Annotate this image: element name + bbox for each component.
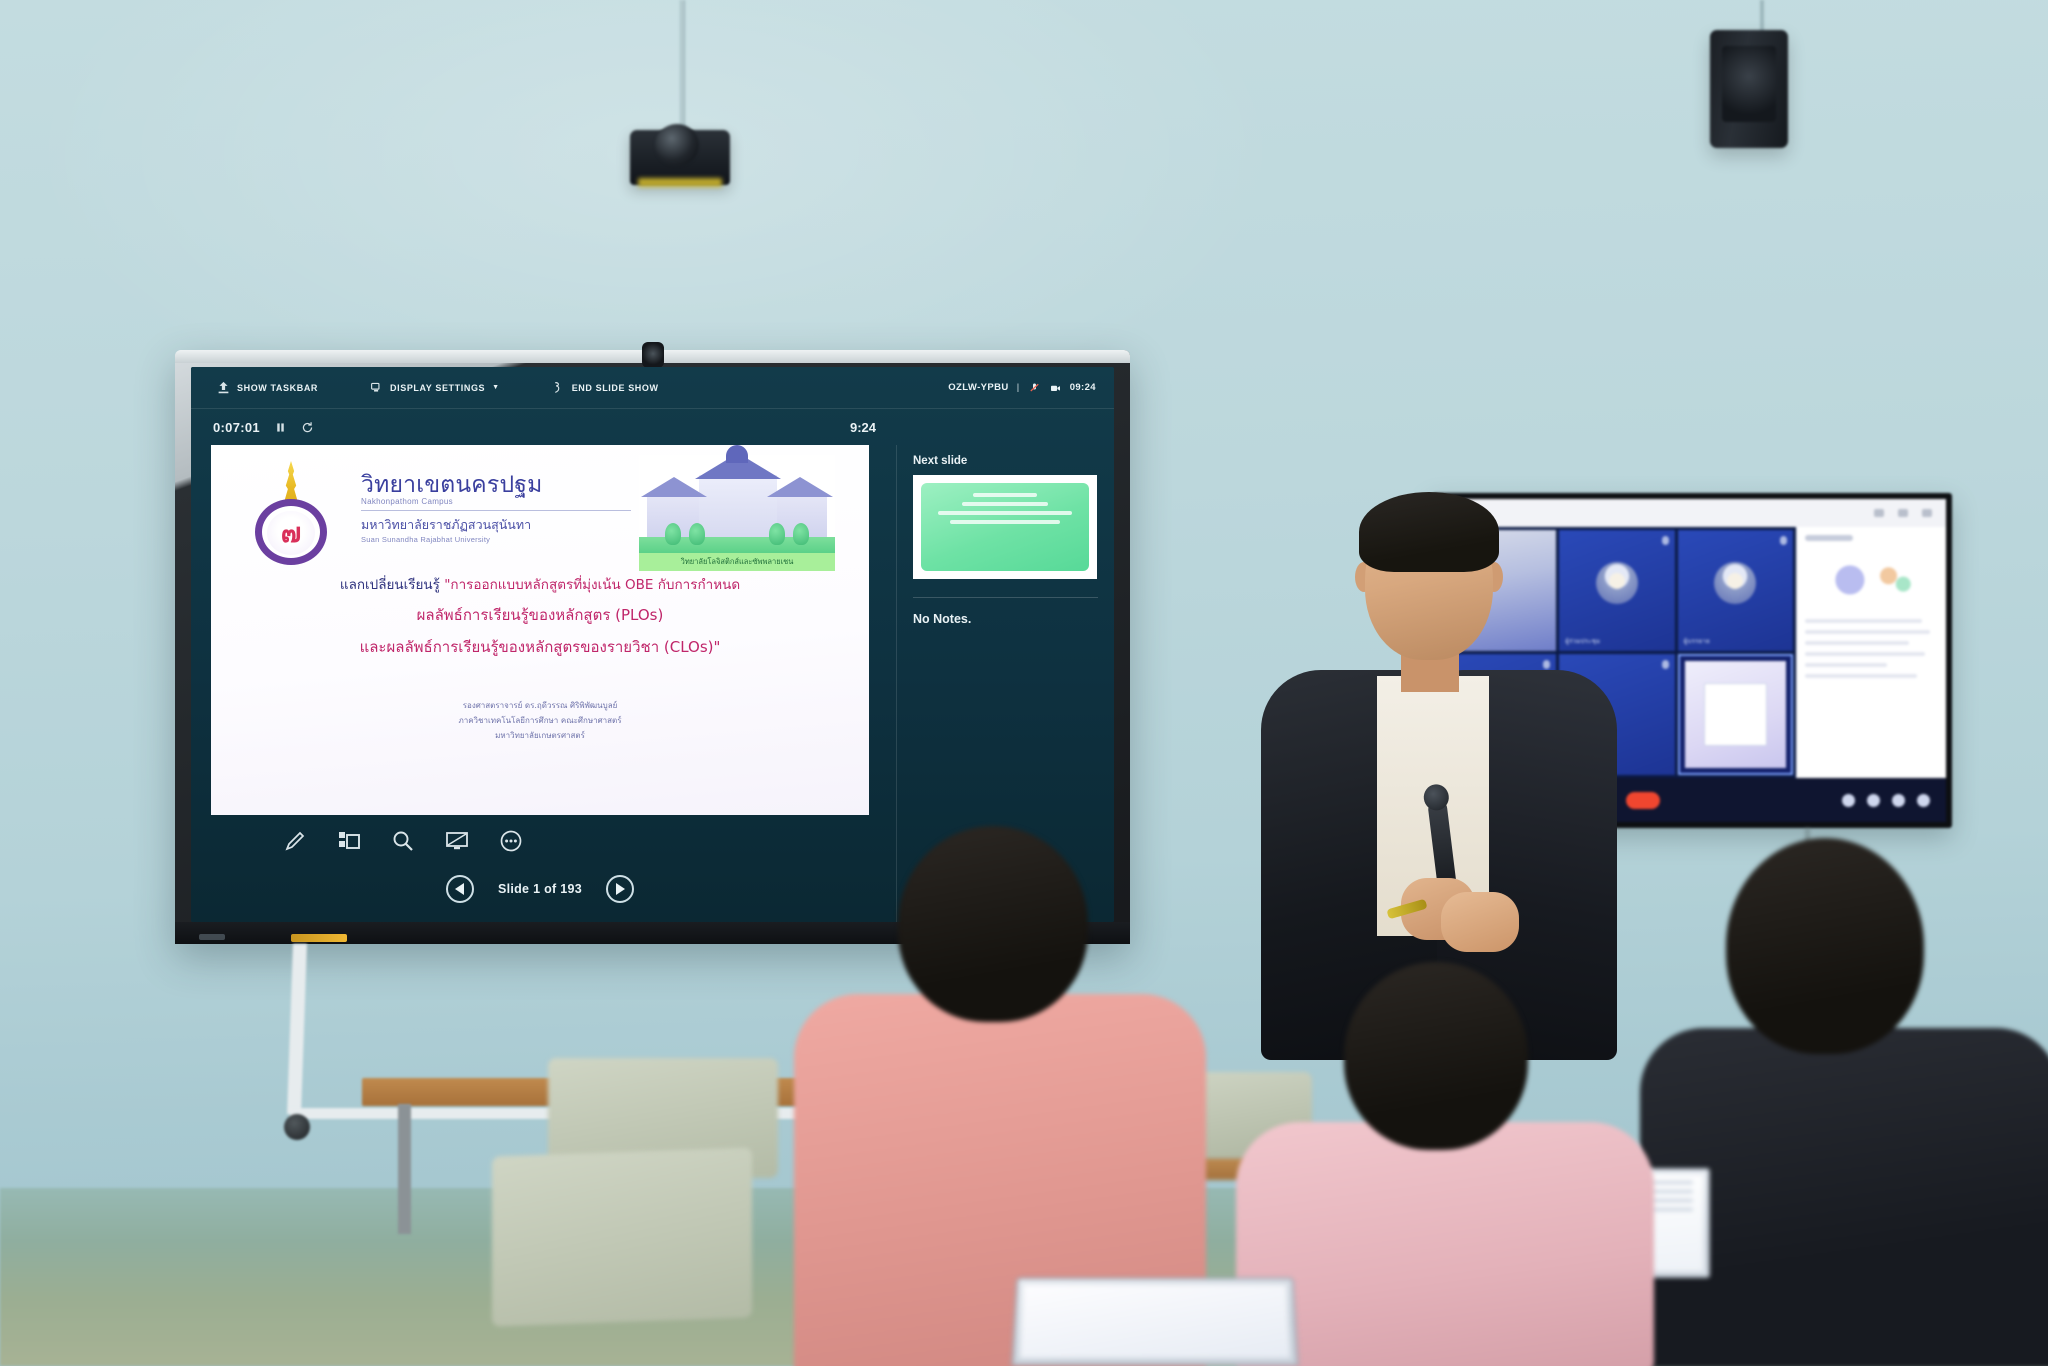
- settings-icon[interactable]: [1867, 794, 1880, 807]
- microphone-muted-icon[interactable]: [1028, 382, 1041, 394]
- audience-body: [1236, 1122, 1654, 1366]
- black-screen-icon[interactable]: [445, 829, 469, 853]
- university-seal-icon: ๗: [247, 461, 335, 565]
- ceiling-speaker: [1710, 30, 1788, 148]
- slide-title-line-3: และผลลัพธ์การเรียนรู้ของหลักสูตรของรายวิ…: [211, 635, 869, 659]
- illustration-tree: [793, 523, 809, 545]
- slide-title-lead: แลกเปลี่ยนเรียนรู้: [340, 577, 444, 593]
- timer-row[interactable]: 0:07:01 9:24: [191, 409, 1114, 445]
- chat-line: [1805, 641, 1909, 645]
- chat-line: [1805, 652, 1925, 656]
- notes-text: No Notes.: [913, 612, 1098, 626]
- chat-panel-title: [1805, 535, 1853, 541]
- display-power-led: [291, 934, 347, 942]
- more-options-icon[interactable]: [499, 829, 523, 853]
- magnifier-icon[interactable]: [391, 829, 415, 853]
- participant-tile[interactable]: ผู้บรรยาย: [1678, 530, 1793, 651]
- audience-head: [1344, 962, 1528, 1150]
- maximize-icon[interactable]: [1898, 509, 1908, 517]
- show-taskbar-label: SHOW TASKBAR: [237, 383, 318, 393]
- slide-title-main: "การออกแบบหลักสูตรที่มุ่งเน้น OBE กับการ…: [444, 577, 740, 593]
- presenter-hair: [1359, 492, 1499, 572]
- previous-slide-button[interactable]: [446, 875, 474, 903]
- display-settings-icon: [370, 381, 383, 394]
- slide-navigation[interactable]: Slide 1 of 193: [211, 875, 869, 903]
- seal-glyph: ๗: [273, 517, 309, 549]
- minimize-icon[interactable]: [1874, 509, 1884, 517]
- display-settings-label: DISPLAY SETTINGS: [390, 383, 485, 393]
- status-separator: |: [1017, 382, 1020, 393]
- presenter-university: มหาวิทยาลัยเกษตรศาสตร์: [211, 729, 869, 744]
- front-laptop: [1011, 1277, 1298, 1366]
- table-leg: [398, 1104, 411, 1234]
- preview-line: [950, 520, 1059, 524]
- camera-mount-rod: [680, 0, 685, 140]
- participant-name: ผู้บรรยาย: [1684, 636, 1710, 646]
- camera-icon[interactable]: [1049, 382, 1062, 394]
- stand-caster: [284, 1114, 310, 1140]
- next-slide-thumbnail[interactable]: [913, 475, 1097, 579]
- avatar: [1714, 562, 1756, 604]
- presenter-hand: [1441, 892, 1519, 952]
- audience-head: [1726, 838, 1924, 1054]
- slide-tools-bar[interactable]: [283, 829, 523, 853]
- microphone-icon: [1780, 536, 1787, 545]
- camera-label-strip: [638, 178, 722, 187]
- slide-counter: Slide 1 of 193: [498, 882, 582, 896]
- laptop-screen: [1020, 1285, 1290, 1358]
- presenter-toolbar[interactable]: SHOW TASKBAR DISPLAY SETTINGS ▼ END: [191, 367, 1114, 409]
- screen-share-tile[interactable]: [1678, 654, 1793, 775]
- chevron-left-icon: [455, 883, 464, 895]
- end-slide-show-button[interactable]: END SLIDE SHOW: [540, 377, 671, 398]
- slide-title-line-1: แลกเปลี่ยนเรียนรู้ "การออกแบบหลักสูตรที่…: [211, 575, 869, 595]
- info-icon[interactable]: [1917, 794, 1930, 807]
- illustration-tower: [726, 445, 748, 463]
- toolbar-time: 09:24: [1070, 382, 1096, 393]
- campus-illustration: วิทยาลัยโลจิสติกส์และซัพพลายเชน: [639, 455, 835, 571]
- speaker-mount-rod: [1760, 0, 1764, 34]
- next-slide-label: Next slide: [913, 455, 1098, 467]
- fullscreen-icon[interactable]: [1892, 794, 1905, 807]
- wall-clock: 9:24: [850, 420, 1092, 435]
- college-badge: วิทยาลัยโลจิสติกส์และซัพพลายเชน: [639, 553, 835, 571]
- panel-divider: [913, 597, 1098, 598]
- illustration-tree: [769, 523, 785, 545]
- presenter-department: ภาควิชาเทคโนโลยีการศึกษา คณะศึกษาศาสตร์: [211, 714, 869, 729]
- panel-webcam-icon: [642, 342, 664, 368]
- window-controls[interactable]: [1874, 509, 1932, 517]
- end-slide-show-label: END SLIDE SHOW: [572, 383, 659, 393]
- microphone-icon: [1662, 536, 1669, 545]
- slide-body: แลกเปลี่ยนเรียนรู้ "การออกแบบหลักสูตรที่…: [211, 575, 869, 744]
- layout-icon[interactable]: [1842, 794, 1855, 807]
- display-settings-button[interactable]: DISPLAY SETTINGS ▼: [358, 377, 512, 398]
- shared-slide: [1704, 683, 1767, 745]
- slide-header: ๗ วิทยาเขตนครปฐม Nakhonpathom Campus มหา…: [211, 445, 869, 573]
- illustration-tree: [665, 523, 681, 545]
- preview-line: [938, 511, 1072, 515]
- restart-icon[interactable]: [301, 421, 314, 434]
- next-slide-button[interactable]: [606, 875, 634, 903]
- chair: [492, 1147, 752, 1326]
- microphone-icon: [1662, 660, 1669, 669]
- chat-line: [1805, 630, 1930, 634]
- chevron-down-icon: ▼: [492, 384, 500, 391]
- slide-presenter-block: รองศาสตราจารย์ ดร.ฤดีวรรณ ศิริพิพัฒนบูลย…: [211, 699, 869, 743]
- chat-panel[interactable]: [1796, 527, 1946, 778]
- pause-icon[interactable]: [274, 421, 287, 434]
- call-secondary-controls[interactable]: [1842, 794, 1930, 807]
- next-slide-preview: [921, 483, 1089, 571]
- preview-line: [962, 502, 1047, 506]
- pen-icon[interactable]: [283, 829, 307, 853]
- current-slide[interactable]: ๗ วิทยาเขตนครปฐม Nakhonpathom Campus มหา…: [211, 445, 869, 815]
- session-status-group[interactable]: OZLW-YPBU | 09:24: [948, 382, 1100, 394]
- chat-line: [1805, 663, 1887, 667]
- illustration-building-center: [699, 475, 777, 541]
- shared-screen-content: [1685, 661, 1786, 768]
- display-brand-badge: [199, 934, 225, 940]
- chevron-right-icon: [616, 883, 625, 895]
- chat-line: [1805, 674, 1917, 678]
- show-taskbar-button[interactable]: SHOW TASKBAR: [205, 377, 330, 398]
- grid-view-icon[interactable]: [337, 829, 361, 853]
- audience-person: [1640, 838, 2048, 1366]
- university-name-en: Suan Sunandha Rajabhat University: [361, 535, 631, 544]
- elapsed-timer: 0:07:01: [213, 420, 260, 435]
- preview-line: [973, 493, 1037, 497]
- camera-lens-icon: [655, 124, 699, 166]
- illustration-tree: [689, 523, 705, 545]
- chat-illustration: [1826, 555, 1918, 607]
- presenter-name: รองศาสตราจารย์ ดร.ฤดีวรรณ ศิริพิพัฒนบูลย…: [211, 699, 869, 714]
- close-icon[interactable]: [1922, 509, 1932, 517]
- taskbar-icon: [217, 381, 230, 394]
- audience-head: [898, 826, 1088, 1022]
- chat-line: [1805, 619, 1922, 623]
- university-name-th: มหาวิทยาลัยราชภัฏสวนสุนันทา: [361, 515, 631, 535]
- campus-name-en: Nakhonpathom Campus: [361, 497, 631, 511]
- session-name: OZLW-YPBU: [948, 382, 1008, 393]
- end-show-icon: [552, 381, 565, 394]
- slide-title-line-2: ผลลัพธ์การเรียนรู้ของหลักสูตร (PLOs): [211, 603, 869, 627]
